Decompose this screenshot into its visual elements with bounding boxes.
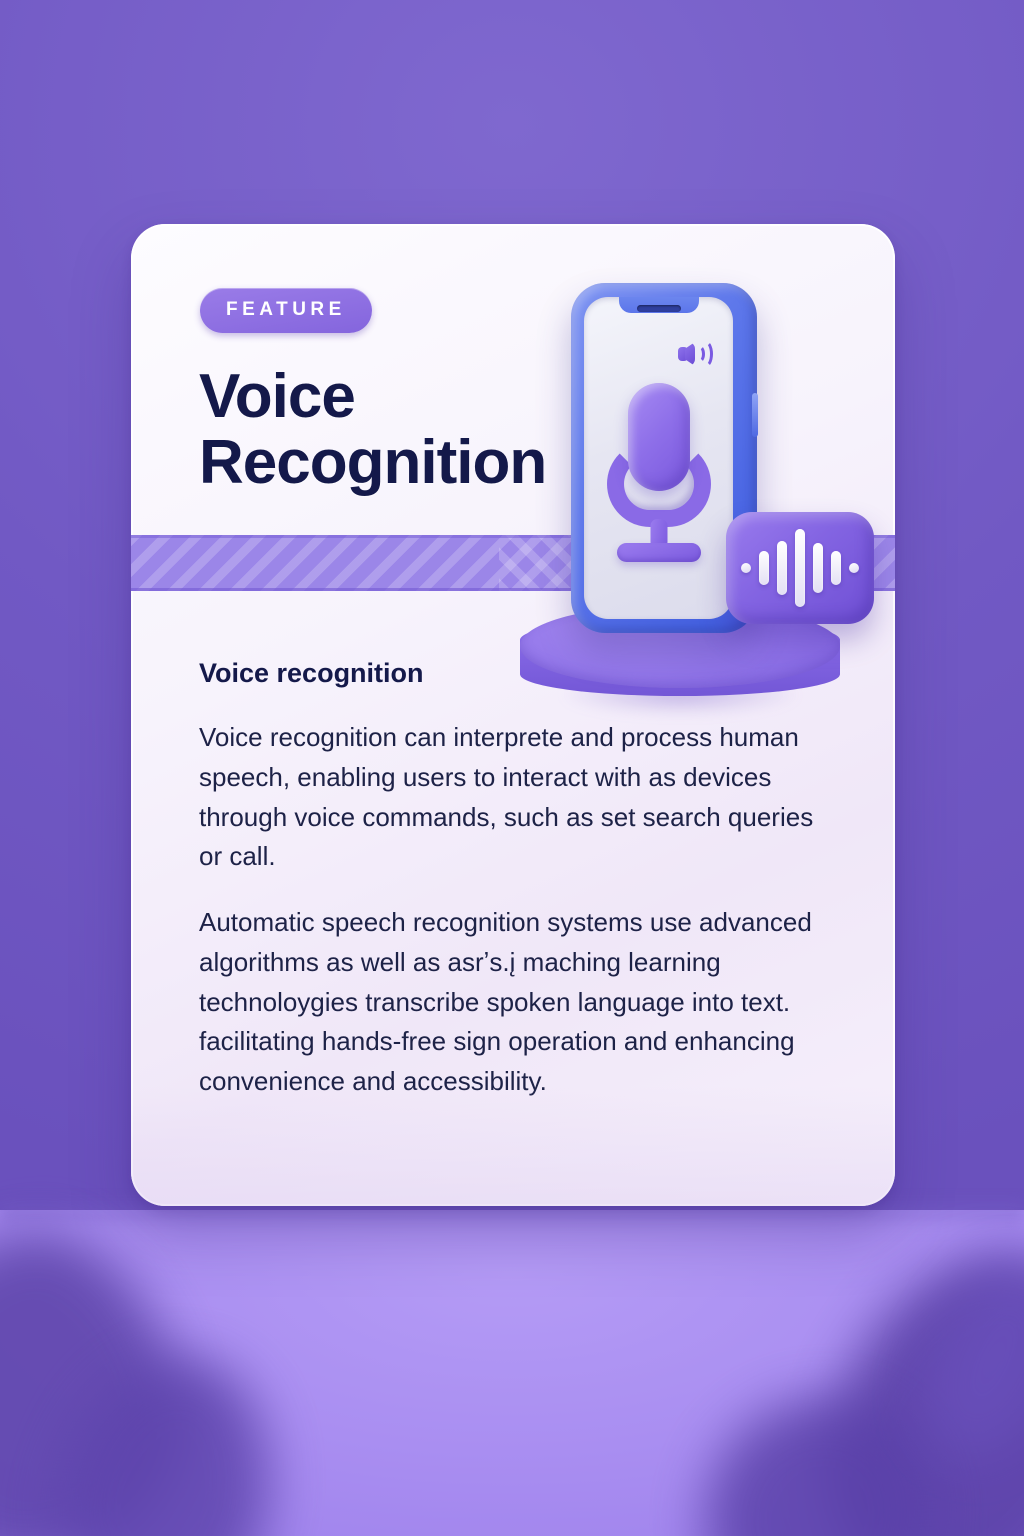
waveform-bar [777,541,787,595]
podium-shadow [512,666,848,724]
microphone-icon [603,383,715,563]
speaker-cone [685,342,695,366]
scene: FEATURE Voice Recognition [0,0,1024,1536]
paragraph: Automatic speech recognition systems use… [199,903,831,1102]
speaker-body [678,347,688,361]
waveform-bar [813,543,823,593]
speaker-volume-icon [678,339,712,369]
podium-platform-icon [520,604,840,714]
waveform-dot-right [849,563,859,573]
waveform-dot-left [741,563,751,573]
stripe-top-edge [131,535,895,538]
diagonal-stripe-pattern [131,535,895,591]
page-title: Voice Recognition [199,364,599,497]
chevron-pattern [499,535,639,591]
podium-top [520,604,840,688]
audio-waveform-icon [726,512,874,624]
microphone-cradle [607,441,711,527]
section-subheading: Voice recognition [199,658,424,689]
sound-arc-inner [693,345,705,363]
phone-side-button [752,393,758,437]
waveform-bar [831,551,841,585]
phone-screen [584,297,733,619]
microphone-capsule [628,383,690,491]
podium-side [520,618,840,696]
voice-recognition-illustration [514,279,874,719]
phone-speaker-slot [637,305,681,312]
feature-card: FEATURE Voice Recognition [131,224,895,1206]
chevron-stripe-band [131,535,895,591]
paragraph: Voice recognition can interprete and pro… [199,718,831,877]
waveform-bar [759,551,769,585]
microphone-base [617,543,701,562]
phone-notch-cutout [619,297,699,313]
body-copy: Voice recognition can interprete and pro… [199,718,831,1102]
feature-badge: FEATURE [200,288,372,333]
microphone-stem [650,519,667,549]
stripe-bottom-edge [131,588,895,591]
floor-seam [0,1204,1024,1230]
sound-arc-outer [697,340,713,368]
waveform-bar [795,529,805,607]
